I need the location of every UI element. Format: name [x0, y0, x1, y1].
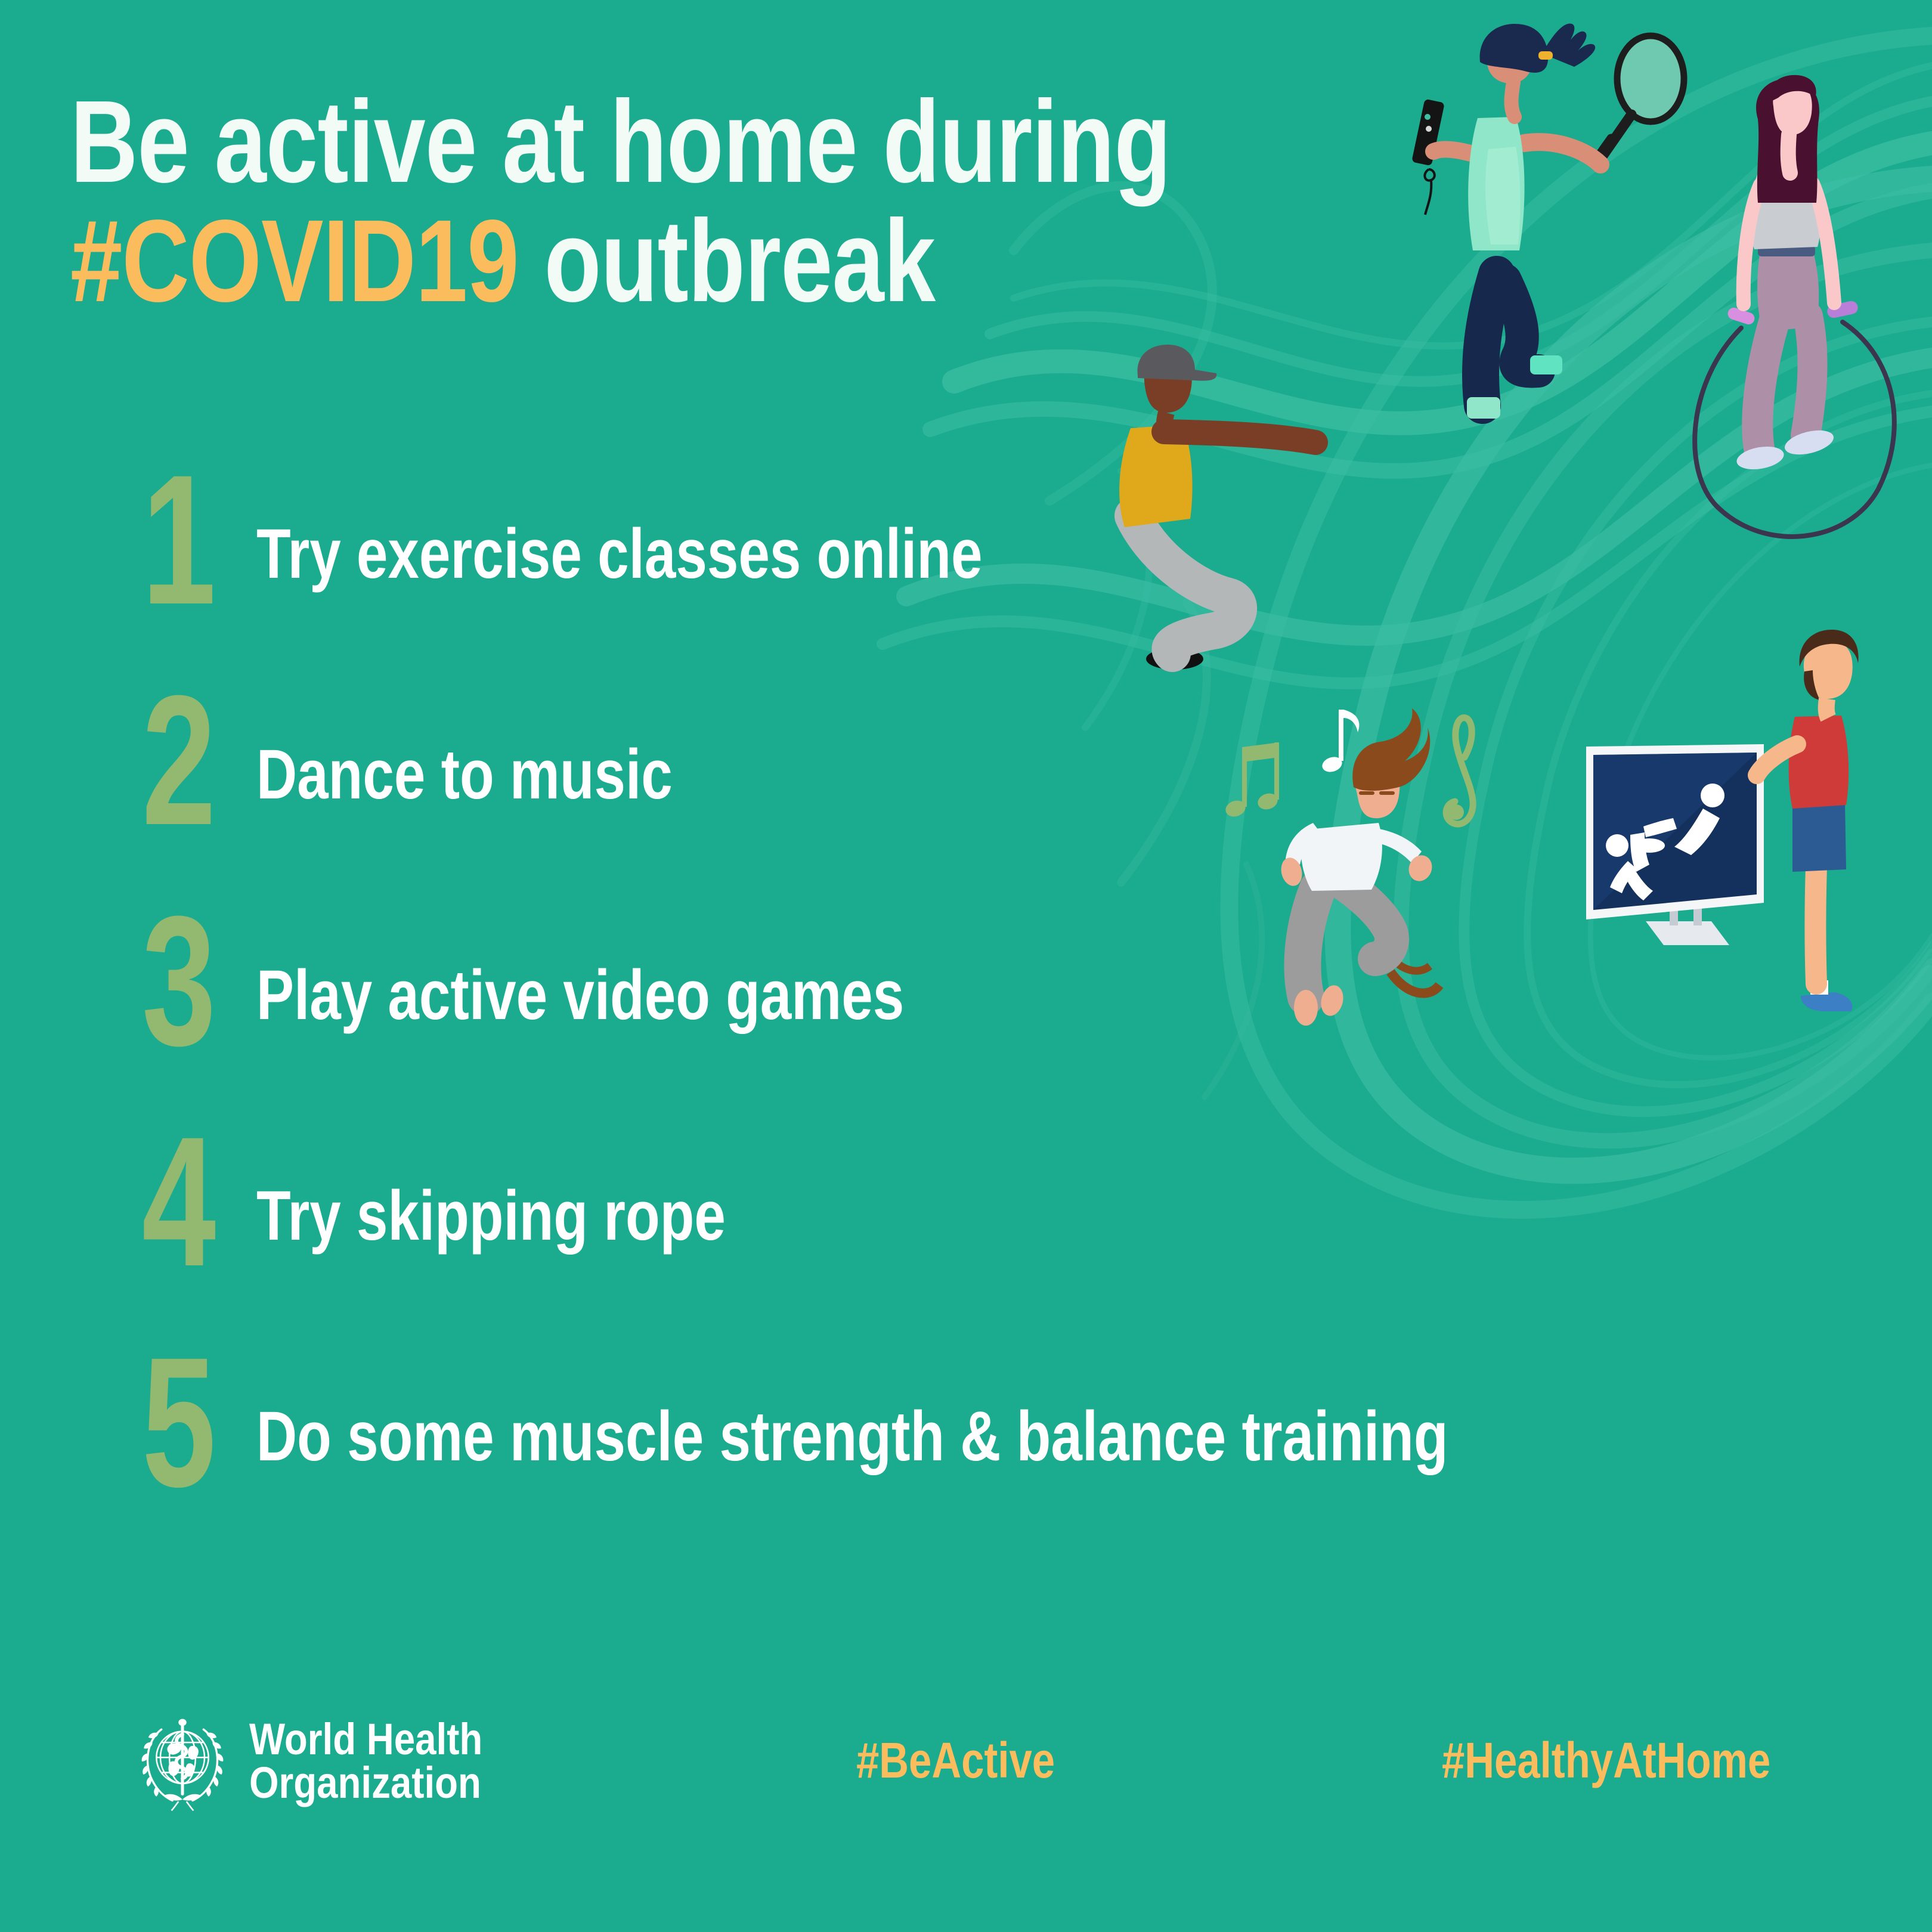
left-leg	[1481, 274, 1497, 405]
right-arm	[1524, 142, 1600, 165]
cap-icon	[1138, 345, 1217, 381]
tips-list: 1 Try exercise classes online 2 Dance to…	[0, 471, 1729, 1574]
video-game-man-illustration	[1757, 630, 1859, 1011]
covid19-hashtag: #COVID19	[70, 196, 519, 326]
left-arm	[1433, 150, 1473, 154]
tip-number: 1	[142, 447, 271, 632]
headline-line-2: #COVID19 outbreak	[70, 202, 1072, 321]
torso-top	[1468, 117, 1524, 250]
tip-text: Try exercise classes online	[256, 519, 983, 589]
headline-outbreak-word: outbreak	[519, 196, 936, 326]
outstretched-arm	[1164, 432, 1315, 442]
motion-controller-icon	[1411, 99, 1445, 215]
right-shoe	[1782, 426, 1836, 459]
left-arm	[1744, 185, 1760, 304]
neck	[1788, 135, 1790, 173]
who-logo: World Health Organization	[132, 1711, 521, 1812]
list-item: 3 Play active video games	[0, 912, 1729, 1133]
right-leg-bent	[1505, 280, 1538, 371]
skipping-rope-woman-illustration	[1695, 75, 1894, 537]
tennis-racket-icon	[1593, 36, 1684, 163]
list-item: 1 Try exercise classes online	[0, 471, 1729, 692]
hair	[1480, 24, 1549, 73]
tip-text: Do some muscle strength & balance traini…	[256, 1401, 1448, 1472]
left-shoe	[1735, 443, 1785, 472]
tennis-player-woman-illustration	[1411, 23, 1684, 419]
right-leg	[1806, 316, 1813, 435]
who-emblem-icon	[132, 1711, 233, 1812]
neck	[1826, 699, 1828, 718]
right-shoe	[1530, 355, 1562, 374]
neck	[1165, 413, 1166, 431]
list-item: 5 Do some muscle strength & balance trai…	[0, 1354, 1729, 1574]
tip-number: 5	[142, 1330, 271, 1515]
hair-front	[1769, 75, 1816, 103]
tip-number: 2	[142, 668, 271, 853]
ponytail	[1538, 23, 1595, 67]
tip-number: 3	[142, 888, 271, 1073]
tank-top	[1789, 716, 1849, 809]
who-line-2: Organization	[249, 1761, 482, 1805]
tip-text: Try skipping rope	[256, 1181, 726, 1251]
footer: World Health Organization #BeActive #Hea…	[0, 1676, 1932, 1932]
pointing-arm	[1757, 744, 1797, 775]
left-leg	[1757, 322, 1774, 448]
pants	[1757, 249, 1819, 332]
left-shoe	[1467, 397, 1500, 419]
torso-highlight	[1485, 147, 1520, 244]
who-line-1: World Health	[249, 1718, 482, 1761]
shoe	[1801, 992, 1852, 1011]
hair	[1800, 630, 1859, 667]
hashtag-healthyathome: #HealthyAtHome	[1442, 1735, 1770, 1785]
beard	[1804, 670, 1820, 700]
poster-canvas: Be active at home during #COVID19 outbre…	[0, 0, 1932, 1932]
head	[1804, 640, 1853, 699]
sock	[1810, 980, 1828, 995]
who-wordmark: World Health Organization	[249, 1718, 482, 1804]
rope-handle-left	[1726, 306, 1756, 326]
legs	[1816, 866, 1817, 984]
head	[1487, 33, 1532, 83]
list-item: 2 Dance to music	[0, 692, 1729, 912]
headline-line-1: Be active at home during	[70, 82, 1072, 202]
hair-back	[1756, 79, 1819, 203]
rope-handle-right	[1826, 300, 1859, 319]
head	[1773, 82, 1812, 135]
list-item: 4 Try skipping rope	[0, 1133, 1729, 1354]
shirt	[1750, 172, 1820, 249]
right-arm	[1813, 184, 1834, 303]
neck	[1512, 82, 1515, 117]
tip-text: Dance to music	[256, 739, 673, 810]
hashtag-beactive: #BeActive	[856, 1735, 1055, 1785]
page-title: Be active at home during #COVID19 outbre…	[70, 82, 1323, 321]
tip-text: Play active video games	[256, 960, 904, 1030]
tip-number: 4	[142, 1109, 271, 1294]
head	[1144, 354, 1192, 413]
waistband	[1758, 246, 1815, 256]
shorts	[1792, 803, 1846, 872]
